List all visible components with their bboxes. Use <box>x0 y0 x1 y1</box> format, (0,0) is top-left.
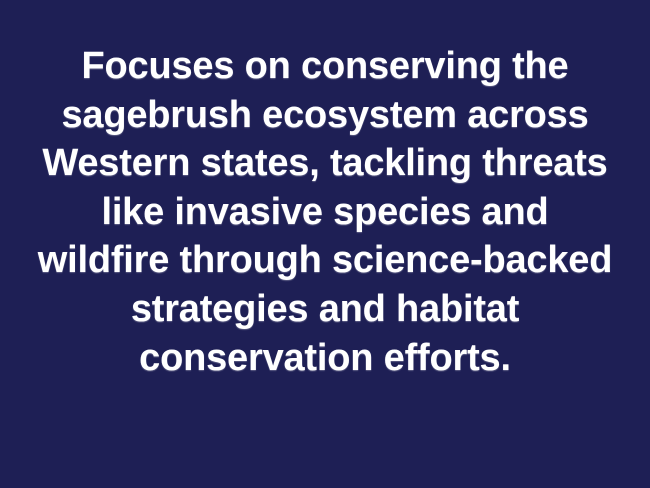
text-line: sagebrush ecosystem across <box>14 91 636 140</box>
slide-canvas: Focuses on conserving the sagebrush ecos… <box>0 0 650 488</box>
text-line: wildfire through science-backed <box>14 236 636 285</box>
slide-body-text: Focuses on conserving the sagebrush ecos… <box>0 42 650 382</box>
text-line: Focuses on conserving the <box>14 42 636 91</box>
text-line: like invasive species and <box>14 188 636 237</box>
text-line: strategies and habitat <box>14 285 636 334</box>
text-line: conservation efforts. <box>14 334 636 383</box>
text-line: Western states, tackling threats <box>14 139 636 188</box>
